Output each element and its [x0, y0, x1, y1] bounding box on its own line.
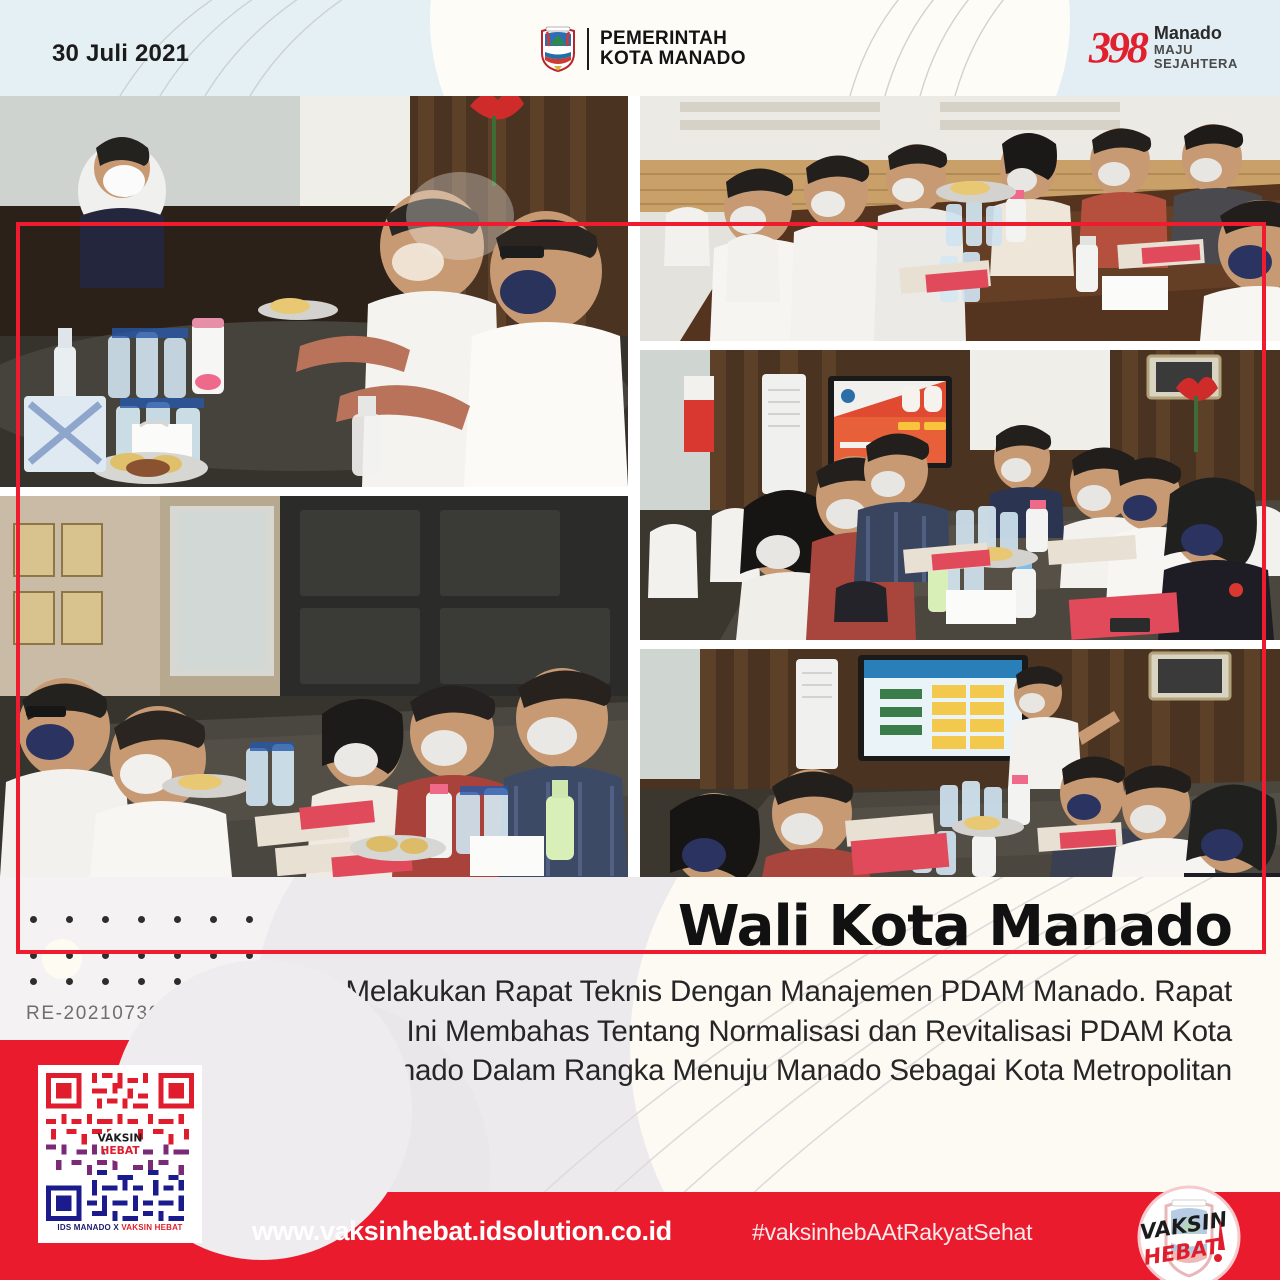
svg-text:HEBAT: HEBAT	[100, 1144, 140, 1157]
qr-code-card[interactable]: VAKSIN HEBAT IDS MANADO X VAKSIN HEBAT	[38, 1065, 202, 1243]
photo-meeting-right-middle	[640, 350, 1280, 640]
government-name: PEMERINTAH KOTA MANADO	[600, 29, 746, 69]
poster-root: 30 Juli 2021 PEMERINTAH KOTA MANADO	[0, 0, 1280, 1280]
photo-collage	[0, 96, 1280, 877]
photo-meeting-right-top	[640, 96, 1280, 341]
brand-398-logo: 398 Manado MAJU SEJAHTERA	[1089, 24, 1238, 72]
qr-caption: IDS MANADO X VAKSIN HEBAT	[46, 1223, 194, 1232]
brand-line1: Manado	[1154, 24, 1238, 43]
hashtag-label: #vaksinhebAAtRakyatSehat	[752, 1219, 1032, 1246]
brand-line3: SEJAHTERA	[1154, 57, 1238, 71]
qr-caption-part2: VAKSIN HEBAT	[121, 1223, 182, 1232]
dot-grid-highlight	[42, 939, 82, 979]
header-bar: 30 Juli 2021 PEMERINTAH KOTA MANADO	[0, 0, 1280, 96]
government-line1: PEMERINTAH	[600, 29, 746, 49]
headline-block: Wali Kota Manado Melakukan Rapat Teknis …	[312, 897, 1232, 1091]
page-subtitle: Melakukan Rapat Teknis Dengan Manajemen …	[312, 972, 1232, 1091]
qr-caption-part1: IDS MANADO X	[57, 1223, 121, 1232]
government-line2: KOTA MANADO	[600, 49, 746, 69]
vaksin-hebat-badge-icon: VAKSIN HEBAT	[1132, 1180, 1246, 1280]
brand-number: 398	[1089, 26, 1146, 70]
photo-meeting-left-top	[0, 96, 628, 487]
page-title: Wali Kota Manado	[312, 897, 1232, 956]
photo-meeting-left-bottom	[0, 496, 628, 877]
manado-city-emblem-icon	[540, 26, 576, 72]
svg-text:VAKSIN: VAKSIN	[98, 1131, 143, 1144]
photo-meeting-right-bottom	[640, 649, 1280, 877]
logo-divider	[587, 28, 589, 70]
qr-code-icon[interactable]: VAKSIN HEBAT	[46, 1073, 194, 1221]
website-url[interactable]: www.vaksinhebat.idsolution.co.id	[252, 1216, 672, 1247]
brand-line2: MAJU	[1154, 43, 1238, 57]
brand-tagline: Manado MAJU SEJAHTERA	[1154, 24, 1238, 72]
header-date: 30 Juli 2021	[52, 40, 189, 68]
government-logo: PEMERINTAH KOTA MANADO	[540, 26, 746, 72]
